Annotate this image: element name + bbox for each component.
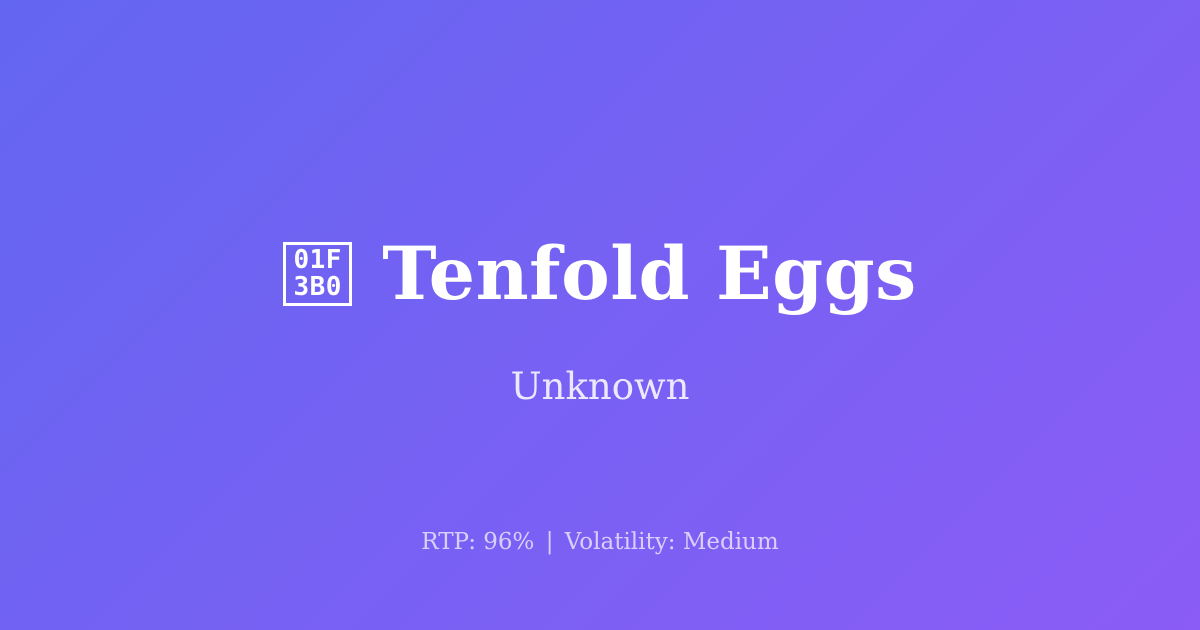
hero-row: 01F 3B0 Tenfold Eggs bbox=[0, 232, 1200, 316]
codepoint-hex-line-2: 3B0 bbox=[293, 274, 341, 301]
codepoint-hex-line-1: 01F bbox=[293, 247, 341, 274]
rtp-label: RTP: bbox=[421, 529, 476, 555]
provider-name: Unknown bbox=[0, 363, 1200, 411]
volatility-label: Volatility: bbox=[565, 529, 676, 555]
rtp-value: 96% bbox=[483, 529, 534, 555]
game-meta-footer: RTP: 96% | Volatility: Medium bbox=[0, 526, 1200, 558]
slot-machine-emoji-icon: 01F 3B0 bbox=[283, 242, 352, 306]
game-og-card: 01F 3B0 Tenfold Eggs Unknown RTP: 96% | … bbox=[0, 0, 1200, 630]
volatility-value: Medium bbox=[683, 529, 779, 555]
meta-separator: | bbox=[542, 529, 558, 555]
page-title: Tenfold Eggs bbox=[382, 232, 917, 316]
